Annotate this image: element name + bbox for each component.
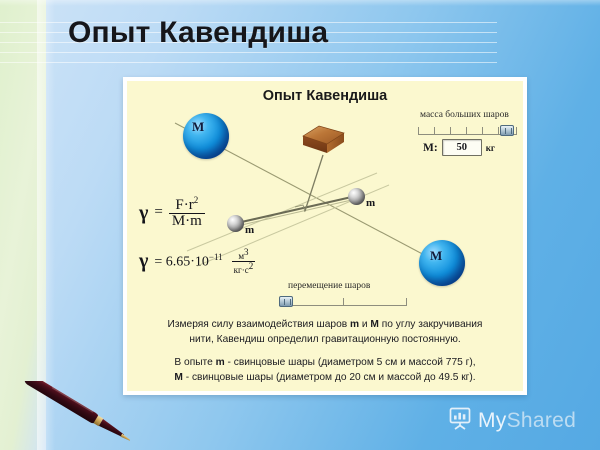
watermark: MyShared [448,406,576,436]
small-ball-m-right[interactable] [348,188,365,205]
move-slider-handle[interactable] [279,296,293,307]
description-block: Измеряя силу взаимодействия шаров m и M … [137,317,513,385]
gamma-units: м3 кг·с2 [232,248,256,275]
description-line-4: M - свинцовые шары (диаметром до 20 см и… [137,370,513,385]
description-line-1: Измеряя силу взаимодействия шаров m и M … [137,317,513,332]
mass-slider-handle[interactable] [500,125,514,136]
fraction: F·r2 M·m [169,196,205,230]
fraction-denominator: M·m [169,213,205,229]
mass-slider-label: масса больших шаров [420,110,509,120]
presentation-board-icon [448,406,472,436]
watermark-text: MyShared [478,409,576,433]
slide-card: Опыт Кавендиша [123,77,527,395]
page-title: Опыт Кавендиша [68,16,328,50]
gamma-numeric-value: = 6.65·10−11 [154,252,222,271]
gamma-symbol: γ [139,251,148,271]
suspended-block-icon [300,123,346,157]
cavendish-apparatus-diagram: M M m m масса больших шаров [127,81,523,311]
slide-viewer: Опыт Кавендиша Опыт Кавендиша [0,0,600,450]
mass-input[interactable]: 50 [442,139,482,156]
description-line-3: В опыте m - свинцовые шары (диаметром 5 … [137,355,513,370]
mass-value-group: M: 50 кг [423,139,495,156]
formula-gamma-definition: γ = F·r2 M·m [139,196,255,230]
big-ball-label: M [192,119,204,135]
fraction-numerator: F·r2 [172,196,201,213]
description-line-2: нити, Кавендиш определил гравитационную … [137,332,513,347]
mass-unit-label: кг [486,143,495,153]
big-ball-label: M [430,248,442,264]
big-ball-M-left[interactable]: M [183,113,229,159]
unit-denominator: кг·с2 [232,261,256,275]
pen-image [14,381,148,441]
unit-numerator: м3 [236,248,250,261]
mass-prefix-label: M: [423,142,438,154]
formula-gamma-value: γ = 6.65·10−11 м3 кг·с2 [139,248,255,275]
big-ball-M-right[interactable]: M [419,240,465,286]
gamma-symbol: γ [139,203,148,223]
move-slider-label: перемещение шаров [288,281,370,291]
equals-sign: = [154,204,162,221]
mass-slider[interactable] [418,124,517,135]
formula-block: γ = F·r2 M·m γ = 6.65·10−11 м3 кг·с2 [139,196,255,275]
small-ball-label: m [366,197,375,209]
move-slider[interactable] [279,295,407,306]
